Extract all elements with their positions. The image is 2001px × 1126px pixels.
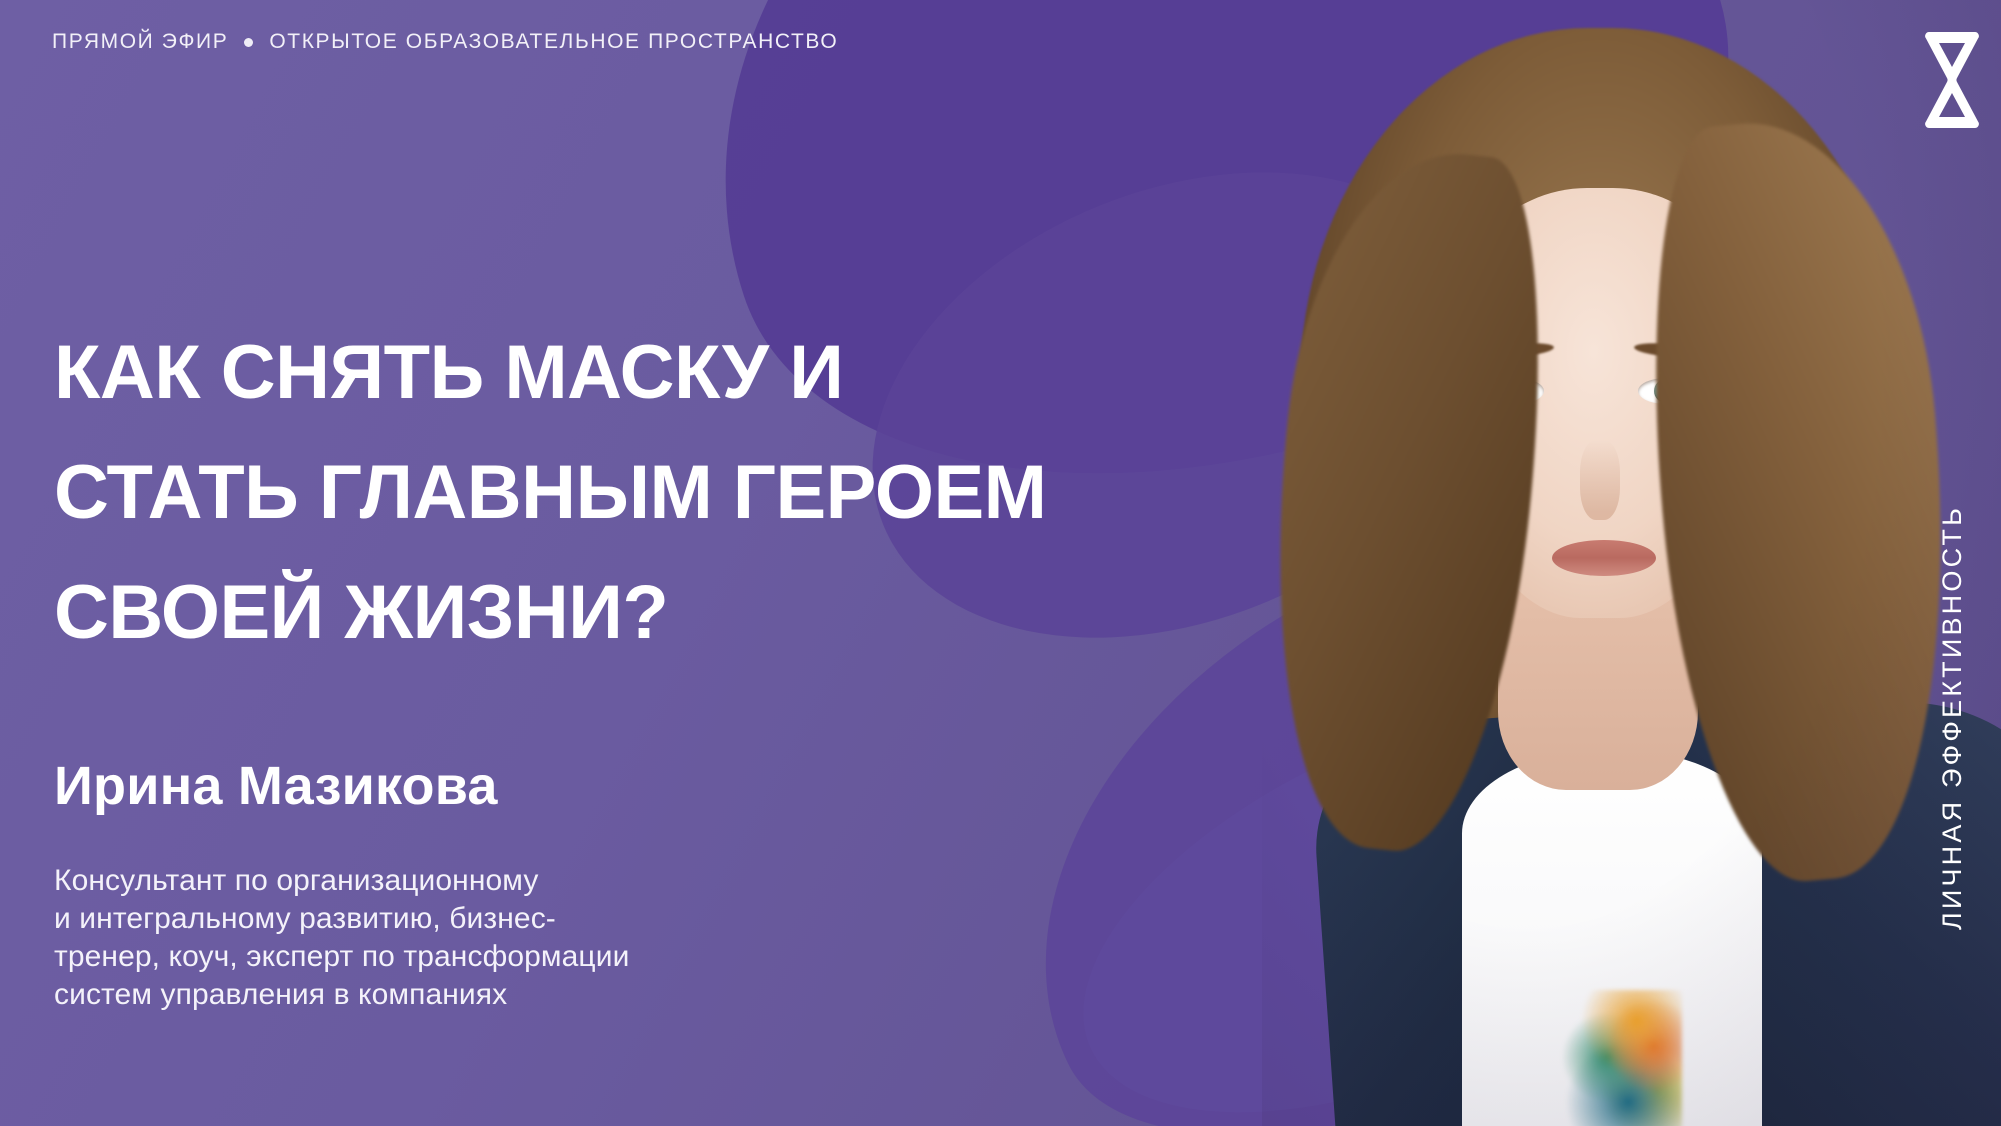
headline-line-3: СВОЕЙ ЖИЗНИ? (54, 553, 1046, 673)
speaker-photo (1262, 0, 2001, 1126)
page-title: КАК СНЯТЬ МАСКУ И СТАТЬ ГЛАВНЫМ ГЕРОЕМ С… (54, 313, 1046, 673)
kicker-space-label: ОТКРЫТОЕ ОБРАЗОВАТЕЛЬНОЕ ПРОСТРАНСТВО (269, 30, 838, 54)
photo-vignette (1262, 0, 2001, 1126)
webinar-banner: ПРЯМОЙ ЭФИР ОТКРЫТОЕ ОБРАЗОВАТЕЛЬНОЕ ПРО… (0, 0, 2001, 1126)
speaker-name: Ирина Мазикова (54, 758, 498, 815)
kicker-line: ПРЯМОЙ ЭФИР ОТКРЫТОЕ ОБРАЗОВАТЕЛЬНОЕ ПРО… (52, 30, 838, 54)
speaker-description-line-4: систем управления в компаниях (54, 976, 629, 1014)
kicker-live-label: ПРЯМОЙ ЭФИР (52, 30, 228, 54)
speaker-description-line-1: Консультант по организационному (54, 862, 629, 900)
speaker-description-line-3: тренер, коуч, эксперт по трансформации (54, 938, 629, 976)
headline-line-2: СТАТЬ ГЛАВНЫМ ГЕРОЕМ (54, 433, 1046, 553)
speaker-description-line-2: и интегральному развитию, бизнес- (54, 900, 629, 938)
headline-line-1: КАК СНЯТЬ МАСКУ И (54, 313, 1046, 433)
bullet-separator-icon (244, 38, 253, 47)
speaker-description: Консультант по организационному и интегр… (54, 862, 629, 1014)
